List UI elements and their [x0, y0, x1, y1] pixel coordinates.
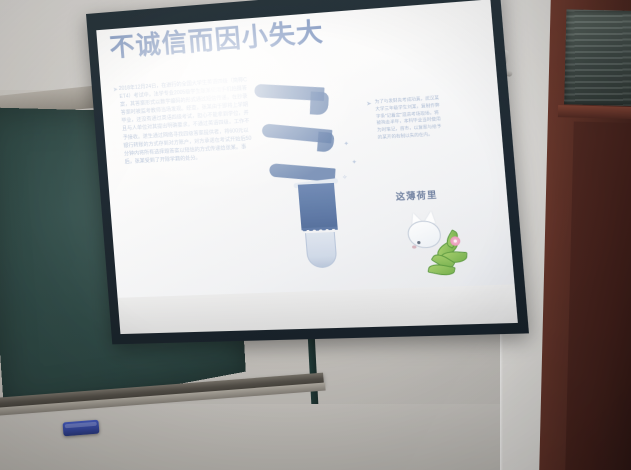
- bullet-arrow-icon: ➤: [366, 100, 372, 110]
- left-bullet-block: ➤ 2018年12月24日，在进行的全国大学生英语四级（简称CET4）考试中，法…: [119, 76, 254, 166]
- slide-body: ➤ 2018年12月24日，在进行的全国大学生英语四级（简称CET4）考试中，法…: [113, 60, 505, 292]
- pencil-body: [298, 183, 338, 230]
- door-glass-panel: [564, 9, 631, 106]
- cat-eye-icon: [417, 241, 421, 244]
- cat-head-icon: [407, 220, 442, 249]
- door-rail: [558, 105, 631, 119]
- pencil-shavings-graphic: ✦ ✦ ✧: [247, 70, 380, 273]
- cat-nose-icon: [412, 245, 417, 248]
- sparkle-icon: ✧: [342, 174, 348, 182]
- right-bullet-block: ➤ 为了与发财先考成功真，武汉某大学三年级学生刘某，复制作弊字条"记着定"混进考…: [375, 95, 444, 142]
- right-bullet-text: 为了与发财先考成功真，武汉某大学三年级学生刘某，复制作弊字条"记着定"混进考场现…: [375, 95, 442, 140]
- classroom-photo: 不诚信而因小失大 ➤ 2018年12月24日，在进行的全国大学生英语四级（简称C…: [0, 0, 631, 470]
- left-bullet-text: 2018年12月24日，在进行的全国大学生英语四级（简称CET4）考试中，法学专…: [119, 77, 252, 165]
- presentation-slide: 不诚信而因小失大 ➤ 2018年12月24日，在进行的全国大学生英语四级（简称C…: [96, 0, 514, 298]
- shaving-1b: [310, 92, 329, 116]
- shaving-2b: [317, 132, 335, 153]
- slide-caption: 这薄荷里: [395, 188, 438, 203]
- board-eraser[interactable]: [63, 420, 100, 437]
- flower-icon: [450, 236, 461, 246]
- sparkle-icon: ✦: [351, 159, 357, 167]
- sparkle-icon: ✦: [343, 140, 349, 148]
- classroom-door[interactable]: [539, 0, 631, 470]
- projection-screen: 不诚信而因小失大 ➤ 2018年12月24日，在进行的全国大学生英语四级（简称C…: [86, 0, 529, 344]
- screen-canvas: 不诚信而因小失大 ➤ 2018年12月24日，在进行的全国大学生英语四级（简称C…: [96, 0, 514, 298]
- wall-below-board: [0, 404, 560, 470]
- pencil-tip: [305, 232, 338, 269]
- door-panel: [565, 122, 631, 470]
- bullet-arrow-icon: ➤: [113, 86, 119, 96]
- cat-and-plant-illustration: [404, 210, 473, 276]
